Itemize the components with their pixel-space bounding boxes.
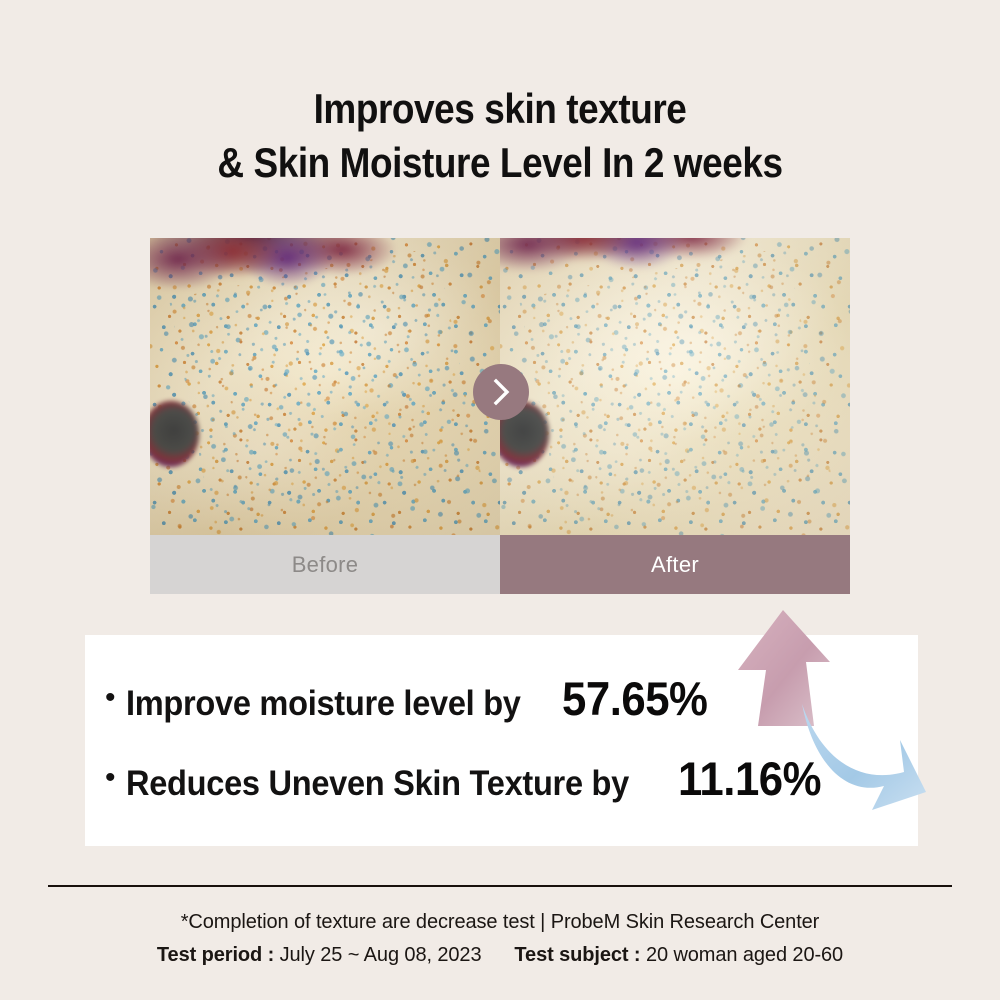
bullet-marker: • <box>105 683 116 713</box>
page-title: Improves skin texture & Skin Moisture Le… <box>0 82 1000 190</box>
after-panel: After <box>500 238 850 594</box>
footer: *Completion of texture are decrease test… <box>0 906 1000 972</box>
footer-note: *Completion of texture are decrease test… <box>0 906 1000 939</box>
result-value: 57.65% <box>562 671 707 726</box>
page-title-line-1: Improves skin texture <box>60 82 940 136</box>
before-label: Before <box>150 535 500 594</box>
skin-vignette <box>150 238 500 535</box>
before-photo-texture <box>150 238 500 535</box>
arrow-down-icon <box>800 700 928 812</box>
result-bullet-texture: • Reduces Uneven Skin Texture by 11.16% <box>85 751 918 806</box>
footer-divider <box>48 885 952 887</box>
comparison-transition-badge <box>473 364 529 420</box>
before-skin-photo <box>150 238 500 535</box>
test-subject-value: 20 woman aged 20-60 <box>646 944 843 966</box>
after-skin-photo <box>500 238 850 535</box>
footer-test-details: Test period : July 25 ~ Aug 08, 2023 Tes… <box>0 939 1000 972</box>
promo-infographic: Improves skin texture & Skin Moisture Le… <box>0 0 1000 1000</box>
result-label: Improve moisture level by <box>126 684 521 724</box>
test-subject-label: Test subject : <box>514 944 640 966</box>
before-panel: Before <box>150 238 500 594</box>
skin-vignette <box>500 238 850 535</box>
result-label: Reduces Uneven Skin Texture by <box>126 764 629 804</box>
bullet-marker: • <box>105 763 116 793</box>
page-title-line-2: & Skin Moisture Level In 2 weeks <box>60 136 940 190</box>
chevron-right-icon <box>488 377 514 407</box>
after-photo-texture <box>500 238 850 535</box>
test-period-value: July 25 ~ Aug 08, 2023 <box>280 944 482 966</box>
after-label: After <box>500 535 850 594</box>
test-period-label: Test period : <box>157 944 274 966</box>
